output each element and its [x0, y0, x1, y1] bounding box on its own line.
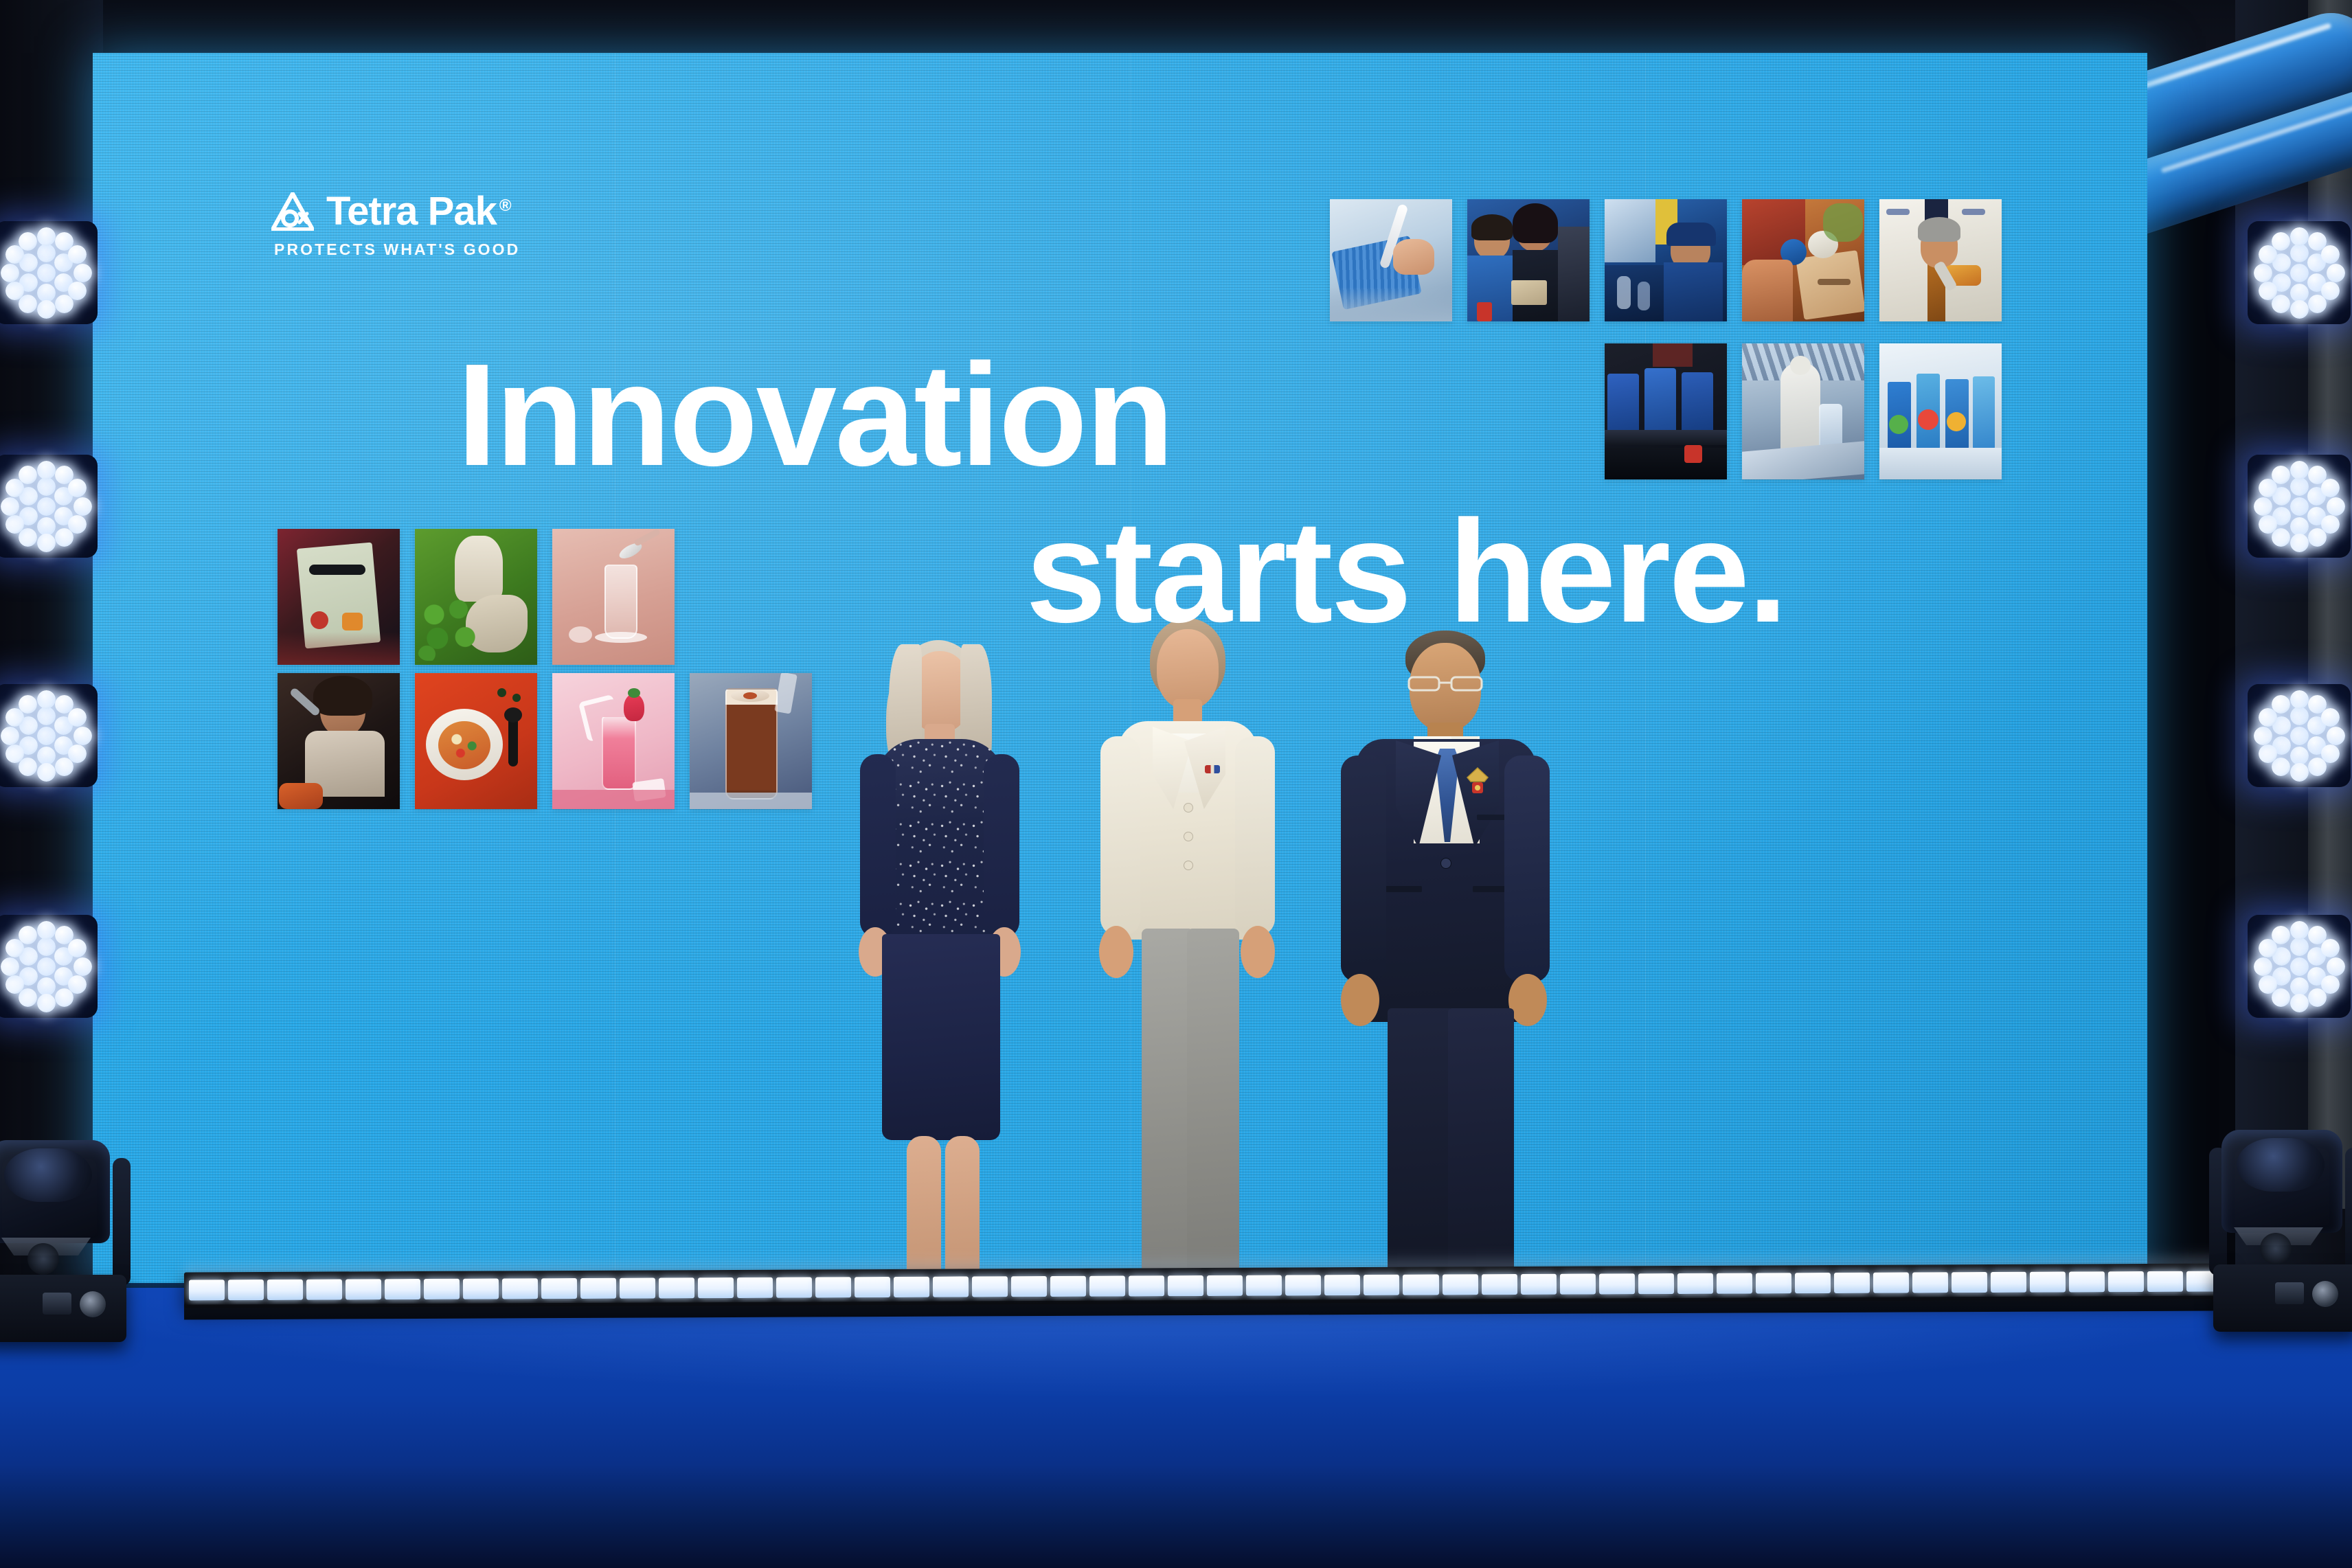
par-led — [2290, 763, 2309, 782]
par-led — [2321, 479, 2340, 497]
batten-led-cell — [1442, 1274, 1478, 1295]
batten-led-cell — [972, 1276, 1008, 1297]
mosaic-tile-engineer-at-filling-machine — [1605, 199, 1727, 321]
batten-led-cell — [1011, 1276, 1047, 1297]
par-led — [37, 477, 56, 496]
moving-head-fan-grille — [27, 1243, 59, 1275]
par-led — [37, 921, 56, 940]
par-led — [73, 727, 92, 745]
batten-led-cell — [1912, 1272, 1948, 1293]
led-par-can-right-4 — [2259, 926, 2340, 1007]
moving-head-spotlight-right — [2209, 1130, 2352, 1336]
batten-led-cell — [541, 1278, 577, 1299]
mosaic-tile-iced-coffee-glass — [690, 673, 812, 809]
par-led — [2290, 707, 2309, 725]
par-led — [19, 988, 37, 1007]
par-led — [2327, 497, 2345, 516]
par-led — [2290, 921, 2309, 940]
batten-led-cell — [228, 1280, 264, 1300]
par-led — [1, 957, 19, 976]
par-led — [1, 497, 19, 516]
par-led — [1, 727, 19, 745]
par-led — [19, 695, 37, 714]
batten-led-cell — [346, 1279, 381, 1299]
par-led — [2290, 517, 2309, 536]
batten-led-cell — [1246, 1275, 1282, 1296]
par-led — [2259, 975, 2277, 994]
brand-tagline: PROTECTS WHAT'S GOOD — [274, 240, 520, 259]
trouser-leg-left — [1142, 929, 1194, 1305]
batten-led-cell — [189, 1280, 225, 1300]
par-led — [2327, 957, 2345, 976]
batten-led-cell — [424, 1279, 460, 1299]
batten-led-cell — [620, 1277, 655, 1298]
batten-led-cell — [1717, 1273, 1752, 1294]
par-led — [2272, 926, 2290, 944]
par-led — [37, 517, 56, 536]
person-right — [1331, 630, 1558, 1359]
lapel-pin — [1205, 765, 1220, 773]
par-led — [19, 466, 37, 484]
par-led — [5, 745, 24, 763]
par-led — [37, 227, 56, 246]
par-led — [19, 926, 37, 944]
brand-name: Tetra Pak® — [326, 192, 511, 231]
mosaic-tile-bowl-of-soup-red-background — [415, 673, 537, 809]
batten-led-cell — [1520, 1274, 1556, 1295]
par-led — [37, 727, 56, 745]
batten-led-cell — [1598, 1273, 1634, 1294]
trouser-leg-right — [1187, 929, 1239, 1308]
par-led — [37, 957, 56, 976]
par-led — [2290, 994, 2309, 1012]
batten-led-cell — [463, 1278, 499, 1299]
led-par-can-right-2 — [2259, 466, 2340, 547]
par-lens-array — [5, 466, 87, 547]
par-led — [2254, 264, 2272, 282]
par-led — [2272, 758, 2290, 776]
led-par-can-right-1 — [2259, 232, 2340, 313]
event-stage-photograph: Tetra Pak® PROTECTS WHAT'S GOOD Innovati… — [0, 0, 2352, 1568]
par-led — [2272, 528, 2290, 547]
arm-left — [860, 754, 896, 938]
mosaic-tile-technician-white-coat-sample — [1879, 199, 2002, 321]
mosaic-tile-green-peas-protein-powder — [415, 529, 537, 665]
par-led — [68, 939, 87, 957]
par-led — [37, 284, 56, 302]
batten-led-cell — [1677, 1273, 1713, 1294]
par-led — [2290, 477, 2309, 496]
par-led — [37, 747, 56, 765]
par-lens-array — [2259, 232, 2340, 313]
led-par-can-left-2 — [5, 466, 87, 547]
par-led — [37, 244, 56, 262]
mosaic-tile-production-line-blue-crates — [1605, 343, 1727, 479]
par-led — [37, 264, 56, 282]
par-led — [73, 497, 92, 516]
par-led — [5, 282, 24, 300]
par-led — [68, 245, 87, 264]
led-par-can-left-4 — [5, 926, 87, 1007]
par-lens-array — [2259, 926, 2340, 1007]
par-led — [2290, 690, 2309, 709]
moving-head-encoder-knob — [2312, 1281, 2338, 1307]
par-led — [2290, 727, 2309, 745]
par-led — [2272, 988, 2290, 1007]
glasses-icon — [1407, 674, 1484, 692]
mosaic-tile-carton-package-in-hand — [278, 529, 400, 665]
moving-head-lens — [4, 1148, 92, 1202]
led-par-can-left-1 — [5, 232, 87, 313]
par-led — [2272, 232, 2290, 251]
par-led — [2290, 977, 2309, 996]
par-led — [2290, 244, 2309, 262]
par-led — [37, 690, 56, 709]
batten-led-cell — [1952, 1272, 1987, 1293]
par-led — [2290, 497, 2309, 516]
batten-led-cell — [2147, 1271, 2183, 1292]
par-led — [2321, 245, 2340, 264]
batten-led-cell — [1207, 1275, 1243, 1296]
par-led — [73, 264, 92, 282]
batten-led-cell — [815, 1277, 851, 1297]
par-lens-array — [5, 926, 87, 1007]
par-led — [37, 994, 56, 1012]
arm-right — [1235, 736, 1275, 935]
registered-trademark-mark: ® — [499, 196, 511, 215]
head — [1157, 629, 1219, 709]
person-center — [1084, 618, 1290, 1353]
par-led — [37, 497, 56, 516]
batten-led-cell — [1795, 1273, 1831, 1293]
person-left — [837, 639, 1043, 1353]
par-led — [37, 763, 56, 782]
par-led — [2272, 295, 2290, 313]
par-led — [2321, 708, 2340, 727]
batten-led-cell — [698, 1277, 734, 1298]
arm-left — [1100, 736, 1140, 935]
batten-led-cell — [1873, 1273, 1909, 1293]
moving-head-fan-grille — [2260, 1233, 2292, 1264]
batten-led-cell — [1834, 1273, 1870, 1293]
batten-led-cell — [1481, 1274, 1517, 1295]
par-led — [1, 264, 19, 282]
par-led — [2290, 264, 2309, 282]
mosaic-tile-factory-worker-at-conveyor — [1742, 343, 1864, 479]
par-lens-array — [2259, 466, 2340, 547]
batten-led-cell — [1364, 1275, 1399, 1295]
batten-led-cell — [2069, 1271, 2105, 1292]
par-led — [2327, 264, 2345, 282]
batten-led-cell — [1559, 1274, 1595, 1295]
par-led — [19, 758, 37, 776]
par-led — [2321, 939, 2340, 957]
par-led — [19, 232, 37, 251]
par-led — [2254, 727, 2272, 745]
par-led — [2290, 284, 2309, 302]
mosaic-tile-team-reviewing-notes — [1467, 199, 1590, 321]
par-led — [2290, 227, 2309, 246]
par-led — [37, 534, 56, 552]
batten-led-cell — [2030, 1272, 2066, 1293]
royal-decoration-pin — [1463, 765, 1492, 797]
par-led — [19, 528, 37, 547]
par-led — [2290, 534, 2309, 552]
moving-head-display — [2275, 1282, 2304, 1304]
batten-led-cell — [659, 1277, 694, 1298]
par-led — [73, 957, 92, 976]
batten-led-cell — [894, 1277, 929, 1297]
batten-led-cell — [1991, 1272, 2026, 1293]
par-led — [2254, 497, 2272, 516]
par-led — [2272, 695, 2290, 714]
par-led — [2290, 957, 2309, 976]
moving-head-lens — [2237, 1138, 2325, 1192]
par-led — [2290, 938, 2309, 956]
led-par-can-right-3 — [2259, 695, 2340, 776]
tetra-pak-triangle-logo-icon — [271, 192, 314, 231]
par-lens-array — [5, 232, 87, 313]
batten-led-cell — [1638, 1273, 1674, 1294]
moving-head-spotlight-left — [0, 1140, 135, 1346]
par-led — [2259, 515, 2277, 534]
par-led — [37, 461, 56, 479]
par-led — [2290, 461, 2309, 479]
batten-led-cell — [1089, 1276, 1125, 1297]
batten-led-cell — [1129, 1275, 1164, 1296]
par-led — [2327, 727, 2345, 745]
mosaic-tile-hands-assembling-carton-prototype — [1742, 199, 1864, 321]
par-led — [2272, 466, 2290, 484]
batten-led-cell — [267, 1280, 303, 1300]
batten-led-cell — [1168, 1275, 1203, 1296]
arm-right — [1504, 755, 1550, 982]
arm-left — [1341, 755, 1386, 982]
par-led — [68, 479, 87, 497]
batten-led-cell — [2108, 1271, 2144, 1292]
par-led — [2290, 300, 2309, 319]
batten-led-cell — [933, 1277, 969, 1297]
batten-led-cell — [737, 1277, 773, 1298]
moving-head-encoder-knob — [80, 1291, 106, 1317]
batten-led-cell — [306, 1279, 342, 1299]
par-led — [19, 295, 37, 313]
mosaic-tile-colourful-tetra-pak-cartons-display — [1879, 343, 2002, 479]
led-par-can-left-3 — [5, 695, 87, 776]
batten-led-cell — [385, 1279, 420, 1299]
par-led — [2290, 747, 2309, 765]
batten-led-cell — [1285, 1275, 1321, 1295]
par-led — [68, 708, 87, 727]
par-led — [5, 515, 24, 534]
par-led — [37, 938, 56, 956]
mosaic-tile-spoon-pouring-into-glass — [552, 529, 675, 665]
moving-head-display — [43, 1293, 71, 1315]
batten-led-cell — [855, 1277, 890, 1297]
par-led — [2259, 745, 2277, 763]
par-lens-array — [2259, 695, 2340, 776]
tetra-pak-brand-lockup: Tetra Pak® PROTECTS WHAT'S GOOD — [271, 192, 520, 259]
mosaic-tile-pink-smoothie-strawberry — [552, 673, 675, 809]
batten-led-cell — [502, 1278, 538, 1299]
mosaic-tile-hand-writing-on-blue-packaging — [1330, 199, 1452, 321]
arm-right — [984, 754, 1019, 938]
par-led — [2259, 282, 2277, 300]
par-led — [37, 300, 56, 319]
batten-led-cell — [1403, 1275, 1438, 1295]
par-led — [2254, 957, 2272, 976]
batten-led-cell — [1324, 1275, 1360, 1295]
par-led — [5, 975, 24, 994]
par-led — [37, 977, 56, 996]
skirt — [882, 934, 1000, 1140]
par-lens-array — [5, 695, 87, 776]
mosaic-tile-woman-tasting-food — [278, 673, 400, 809]
batten-led-cell — [1756, 1273, 1791, 1293]
batten-led-cell — [776, 1277, 812, 1297]
par-led — [37, 707, 56, 725]
batten-led-cell — [1050, 1276, 1086, 1297]
batten-led-cell — [580, 1278, 616, 1299]
